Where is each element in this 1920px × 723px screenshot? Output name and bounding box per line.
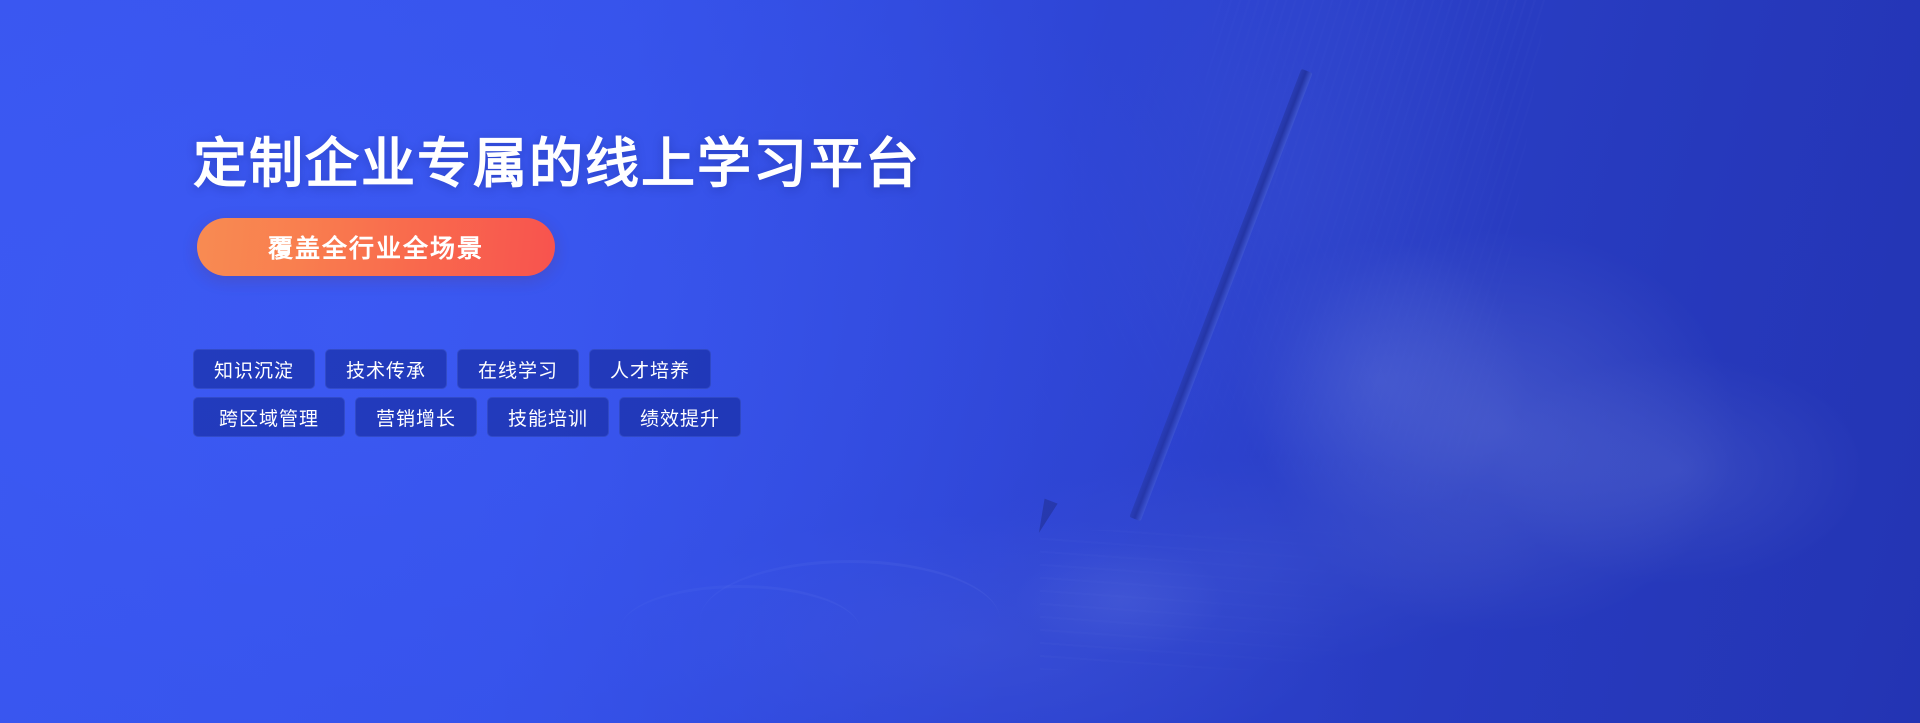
banner-content: 定制企业专属的线上学习平台 覆盖全行业全场景 知识沉淀 技术传承 在线学习 人才… (193, 0, 1093, 723)
tag-chip-talent-development[interactable]: 人才培养 (589, 349, 711, 389)
hero-banner: 定制企业专属的线上学习平台 覆盖全行业全场景 知识沉淀 技术传承 在线学习 人才… (0, 0, 1920, 723)
tag-list: 知识沉淀 技术传承 在线学习 人才培养 跨区域管理 营销增长 技能培训 绩效提升 (193, 349, 741, 437)
tag-chip-online-learning[interactable]: 在线学习 (457, 349, 579, 389)
cta-button[interactable]: 覆盖全行业全场景 (197, 218, 555, 276)
tag-chip-knowledge-precipitation[interactable]: 知识沉淀 (193, 349, 315, 389)
tag-row-1: 知识沉淀 技术传承 在线学习 人才培养 (193, 349, 741, 389)
tag-chip-cross-region-management[interactable]: 跨区域管理 (193, 397, 345, 437)
tag-chip-performance-improvement[interactable]: 绩效提升 (619, 397, 741, 437)
tag-chip-skills-training[interactable]: 技能培训 (487, 397, 609, 437)
tag-chip-marketing-growth[interactable]: 营销增长 (355, 397, 477, 437)
tag-chip-technology-inheritance[interactable]: 技术传承 (325, 349, 447, 389)
page-title: 定制企业专属的线上学习平台 (193, 132, 921, 197)
tag-row-2: 跨区域管理 营销增长 技能培训 绩效提升 (193, 397, 741, 437)
